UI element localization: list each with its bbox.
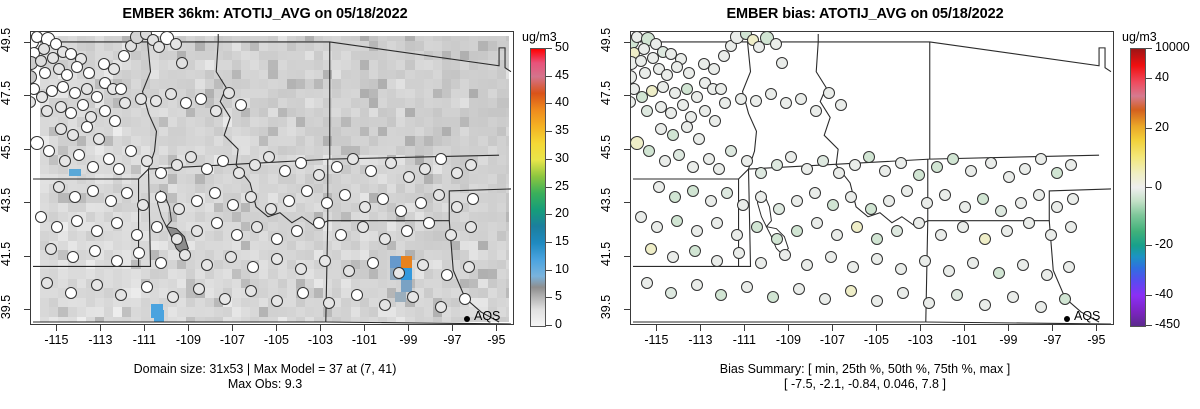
obs-marker[interactable]: [755, 191, 767, 203]
obs-marker[interactable]: [43, 145, 55, 157]
obs-marker[interactable]: [895, 263, 907, 275]
obs-marker[interactable]: [233, 167, 245, 179]
obs-marker[interactable]: [297, 287, 309, 299]
obs-marker[interactable]: [180, 97, 192, 109]
obs-marker[interactable]: [201, 259, 213, 271]
obs-marker[interactable]: [167, 291, 179, 303]
obs-marker[interactable]: [415, 197, 427, 209]
obs-marker[interactable]: [219, 293, 231, 305]
obs-marker[interactable]: [301, 185, 313, 197]
obs-marker[interactable]: [423, 217, 435, 229]
obs-marker[interactable]: [35, 55, 47, 67]
obs-marker[interactable]: [407, 291, 419, 303]
panel-model-title: EMBER 36km: ATOTIJ_AVG on 05/18/2022: [0, 6, 530, 22]
obs-marker[interactable]: [667, 129, 679, 141]
obs-marker[interactable]: [335, 229, 347, 241]
obs-marker[interactable]: [1007, 291, 1019, 303]
obs-marker[interactable]: [735, 93, 747, 105]
obs-marker[interactable]: [170, 38, 182, 50]
obs-marker[interactable]: [959, 201, 971, 213]
obs-marker[interactable]: [53, 181, 65, 193]
obs-marker[interactable]: [249, 159, 261, 171]
obs-marker[interactable]: [708, 63, 720, 75]
obs-marker[interactable]: [689, 245, 701, 257]
obs-marker[interactable]: [67, 251, 79, 263]
obs-marker[interactable]: [465, 159, 477, 171]
map-boundaries-bias: [631, 32, 1113, 324]
obs-marker[interactable]: [451, 167, 463, 179]
obs-marker[interactable]: [711, 217, 723, 229]
obs-marker[interactable]: [87, 161, 99, 173]
obs-marker[interactable]: [1001, 225, 1013, 237]
obs-marker[interactable]: [823, 87, 835, 99]
obs-marker[interactable]: [801, 163, 813, 175]
obs-marker[interactable]: [65, 107, 77, 119]
y-axis-tick: [24, 42, 30, 43]
obs-marker[interactable]: [55, 123, 67, 135]
obs-marker[interactable]: [691, 225, 703, 237]
obs-marker[interactable]: [108, 63, 120, 75]
obs-marker[interactable]: [465, 221, 477, 233]
obs-marker[interactable]: [1045, 229, 1057, 241]
obs-marker[interactable]: [195, 93, 207, 105]
obs-marker[interactable]: [835, 99, 847, 111]
obs-marker[interactable]: [699, 105, 711, 117]
obs-marker[interactable]: [271, 253, 283, 265]
obs-marker[interactable]: [291, 225, 303, 237]
obs-marker[interactable]: [671, 61, 683, 73]
obs-marker[interactable]: [171, 233, 183, 245]
obs-marker[interactable]: [977, 193, 989, 205]
obs-marker[interactable]: [879, 165, 891, 177]
obs-marker[interactable]: [791, 225, 803, 237]
obs-marker[interactable]: [965, 165, 977, 177]
obs-marker[interactable]: [295, 263, 307, 275]
obs-marker[interactable]: [135, 93, 147, 105]
obs-marker[interactable]: [957, 221, 969, 233]
obs-marker[interactable]: [863, 151, 875, 163]
obs-marker[interactable]: [687, 185, 699, 197]
obs-marker[interactable]: [643, 145, 655, 157]
obs-marker[interactable]: [1065, 159, 1077, 171]
obs-marker[interactable]: [895, 157, 907, 169]
obs-marker[interactable]: [683, 67, 695, 79]
obs-marker[interactable]: [217, 155, 229, 167]
obs-marker[interactable]: [845, 191, 857, 203]
obs-marker[interactable]: [1065, 221, 1077, 233]
obs-marker[interactable]: [433, 189, 445, 201]
obs-marker[interactable]: [41, 277, 53, 289]
obs-marker[interactable]: [851, 221, 863, 233]
obs-marker[interactable]: [1019, 163, 1031, 175]
obs-marker[interactable]: [1003, 171, 1015, 183]
obs-marker[interactable]: [379, 233, 391, 245]
obs-marker[interactable]: [403, 171, 415, 183]
obs-marker[interactable]: [639, 67, 651, 79]
obs-marker[interactable]: [111, 255, 123, 267]
obs-marker[interactable]: [847, 261, 859, 273]
obs-marker[interactable]: [1017, 259, 1029, 271]
obs-marker[interactable]: [379, 299, 391, 311]
plot-area-bias[interactable]: AQS: [630, 31, 1114, 325]
obs-marker[interactable]: [645, 243, 657, 255]
obs-marker[interactable]: [703, 153, 715, 165]
obs-marker[interactable]: [435, 153, 447, 165]
obs-marker[interactable]: [661, 69, 673, 81]
obs-marker[interactable]: [247, 261, 259, 273]
obs-marker[interactable]: [897, 287, 909, 299]
obs-marker[interactable]: [71, 61, 83, 73]
obs-marker[interactable]: [1035, 153, 1047, 165]
obs-marker[interactable]: [1035, 301, 1047, 313]
obs-marker[interactable]: [995, 205, 1007, 217]
plot-area-model[interactable]: AQS: [30, 31, 514, 325]
obs-marker[interactable]: [235, 99, 247, 111]
obs-marker[interactable]: [913, 217, 925, 229]
obs-marker[interactable]: [331, 161, 343, 173]
obs-marker[interactable]: [871, 253, 883, 265]
x-axis-tick-label: -115: [36, 333, 76, 347]
obs-marker[interactable]: [849, 159, 861, 171]
obs-marker[interactable]: [65, 287, 77, 299]
obs-marker[interactable]: [979, 233, 991, 245]
obs-marker[interactable]: [733, 247, 745, 259]
obs-marker[interactable]: [91, 279, 103, 291]
obs-marker[interactable]: [673, 149, 685, 161]
obs-marker[interactable]: [779, 249, 791, 261]
obs-marker[interactable]: [785, 151, 797, 163]
obs-marker[interactable]: [231, 229, 243, 241]
obs-marker[interactable]: [653, 181, 665, 193]
obs-marker[interactable]: [61, 69, 73, 81]
obs-marker[interactable]: [801, 259, 813, 271]
obs-marker[interactable]: [365, 165, 377, 177]
obs-marker[interactable]: [193, 283, 205, 295]
obs-marker[interactable]: [891, 225, 903, 237]
obs-marker[interactable]: [176, 57, 188, 69]
obs-marker[interactable]: [71, 215, 83, 227]
obs-marker[interactable]: [141, 155, 153, 167]
obs-marker[interactable]: [41, 105, 53, 117]
obs-marker[interactable]: [343, 265, 355, 277]
obs-marker[interactable]: [691, 279, 703, 291]
obs-marker[interactable]: [1059, 293, 1071, 305]
obs-marker[interactable]: [67, 129, 79, 141]
obs-marker[interactable]: [677, 99, 689, 111]
obs-marker[interactable]: [151, 221, 163, 233]
obs-marker[interactable]: [755, 257, 767, 269]
obs-marker[interactable]: [825, 251, 837, 263]
obs-marker[interactable]: [351, 289, 363, 301]
obs-marker[interactable]: [985, 157, 997, 169]
obs-marker[interactable]: [323, 297, 335, 309]
obs-marker[interactable]: [737, 199, 749, 211]
obs-marker[interactable]: [313, 169, 325, 181]
obs-marker[interactable]: [687, 161, 699, 173]
obs-marker[interactable]: [445, 229, 457, 241]
obs-marker[interactable]: [871, 233, 883, 245]
obs-marker[interactable]: [111, 217, 123, 229]
obs-marker[interactable]: [1015, 197, 1027, 209]
obs-marker[interactable]: [39, 67, 51, 79]
obs-marker[interactable]: [93, 133, 105, 145]
obs-marker[interactable]: [773, 203, 785, 215]
obs-marker[interactable]: [741, 281, 753, 293]
obs-marker[interactable]: [467, 193, 479, 205]
obs-marker[interactable]: [245, 191, 257, 203]
obs-marker[interactable]: [459, 293, 471, 305]
obs-marker[interactable]: [103, 153, 115, 165]
obs-marker[interactable]: [883, 195, 895, 207]
obs-marker[interactable]: [211, 217, 223, 229]
obs-marker[interactable]: [417, 259, 429, 271]
obs-marker[interactable]: [321, 197, 333, 209]
obs-marker[interactable]: [693, 133, 705, 145]
obs-marker[interactable]: [817, 155, 829, 167]
obs-marker[interactable]: [210, 105, 222, 117]
obs-marker[interactable]: [709, 115, 721, 127]
obs-marker[interactable]: [73, 149, 85, 161]
obs-marker[interactable]: [319, 255, 331, 267]
obs-marker[interactable]: [87, 185, 99, 197]
obs-marker[interactable]: [810, 105, 822, 117]
obs-marker[interactable]: [651, 221, 663, 233]
obs-marker[interactable]: [377, 193, 389, 205]
obs-marker[interactable]: [359, 201, 371, 213]
obs-marker[interactable]: [1063, 261, 1075, 273]
obs-marker[interactable]: [831, 229, 843, 241]
obs-marker[interactable]: [451, 201, 463, 213]
obs-marker[interactable]: [395, 205, 407, 217]
obs-marker[interactable]: [630, 136, 644, 150]
obs-marker[interactable]: [750, 95, 762, 107]
obs-marker[interactable]: [681, 83, 693, 95]
obs-marker[interactable]: [401, 225, 413, 237]
obs-marker[interactable]: [279, 165, 291, 177]
obs-marker[interactable]: [155, 257, 167, 269]
obs-marker[interactable]: [185, 151, 197, 163]
obs-marker[interactable]: [77, 99, 89, 111]
obs-marker[interactable]: [715, 83, 727, 95]
obs-marker[interactable]: [665, 107, 677, 119]
colorbar-tick: [546, 297, 552, 298]
obs-marker[interactable]: [271, 233, 283, 245]
obs-marker[interactable]: [721, 187, 733, 199]
obs-marker[interactable]: [115, 83, 127, 95]
obs-marker[interactable]: [641, 105, 653, 117]
obs-marker[interactable]: [811, 217, 823, 229]
obs-marker[interactable]: [901, 185, 913, 197]
obs-marker[interactable]: [669, 87, 681, 99]
obs-marker[interactable]: [105, 195, 117, 207]
obs-marker[interactable]: [69, 87, 81, 99]
obs-marker[interactable]: [283, 195, 295, 207]
obs-marker[interactable]: [771, 159, 783, 171]
obs-marker[interactable]: [119, 97, 131, 109]
obs-marker[interactable]: [776, 57, 788, 69]
obs-marker[interactable]: [741, 155, 753, 167]
obs-marker[interactable]: [795, 93, 807, 105]
obs-marker[interactable]: [125, 145, 137, 157]
obs-marker[interactable]: [793, 283, 805, 295]
obs-marker[interactable]: [227, 199, 239, 211]
obs-marker[interactable]: [1051, 201, 1063, 213]
obs-marker[interactable]: [755, 167, 767, 179]
obs-marker[interactable]: [751, 221, 763, 233]
obs-marker[interactable]: [91, 91, 103, 103]
obs-marker[interactable]: [441, 269, 453, 281]
obs-marker[interactable]: [719, 97, 731, 109]
obs-marker[interactable]: [115, 289, 127, 301]
obs-marker[interactable]: [118, 50, 130, 62]
obs-marker[interactable]: [771, 233, 783, 245]
obs-marker[interactable]: [155, 167, 167, 179]
obs-marker[interactable]: [951, 289, 963, 301]
obs-marker[interactable]: [30, 136, 44, 150]
obs-marker[interactable]: [711, 255, 723, 267]
obs-marker[interactable]: [209, 187, 221, 199]
obs-marker[interactable]: [665, 287, 677, 299]
obs-marker[interactable]: [313, 217, 325, 229]
obs-marker[interactable]: [385, 157, 397, 169]
obs-marker[interactable]: [131, 229, 143, 241]
obs-marker[interactable]: [165, 88, 177, 100]
obs-marker[interactable]: [1023, 217, 1035, 229]
obs-marker[interactable]: [979, 299, 991, 311]
y-axis-tick: [24, 149, 30, 150]
obs-marker[interactable]: [137, 199, 149, 211]
obs-marker[interactable]: [263, 151, 275, 163]
obs-marker[interactable]: [245, 285, 257, 297]
obs-marker[interactable]: [923, 297, 935, 309]
obs-marker[interactable]: [265, 203, 277, 215]
obs-marker[interactable]: [171, 159, 183, 171]
obs-marker[interactable]: [357, 221, 369, 233]
obs-marker[interactable]: [295, 157, 307, 169]
obs-marker[interactable]: [59, 155, 71, 167]
caption-bias-line2: [ -7.5, -2.1, -0.84, 0.046, 7.8 ]: [600, 377, 1130, 392]
obs-marker[interactable]: [191, 225, 203, 237]
obs-marker[interactable]: [155, 191, 167, 203]
obs-marker[interactable]: [35, 211, 47, 223]
obs-marker[interactable]: [121, 187, 133, 199]
obs-marker[interactable]: [83, 67, 95, 79]
obs-marker[interactable]: [770, 38, 782, 50]
obs-marker[interactable]: [827, 199, 839, 211]
obs-marker[interactable]: [767, 291, 779, 303]
obs-marker[interactable]: [81, 83, 93, 95]
obs-marker[interactable]: [141, 281, 153, 293]
obs-marker[interactable]: [641, 277, 653, 289]
obs-marker[interactable]: [51, 221, 63, 233]
obs-marker[interactable]: [681, 121, 693, 133]
obs-marker[interactable]: [731, 229, 743, 241]
obs-marker[interactable]: [913, 169, 925, 181]
obs-marker[interactable]: [791, 195, 803, 207]
obs-marker[interactable]: [1033, 189, 1045, 201]
obs-marker[interactable]: [833, 167, 845, 179]
obs-marker[interactable]: [865, 203, 877, 215]
obs-marker[interactable]: [81, 121, 93, 133]
obs-marker[interactable]: [713, 163, 725, 175]
obs-marker[interactable]: [921, 197, 933, 209]
obs-marker[interactable]: [173, 203, 185, 215]
obs-marker[interactable]: [657, 81, 669, 93]
obs-marker[interactable]: [57, 81, 69, 93]
obs-marker[interactable]: [179, 249, 191, 261]
obs-marker[interactable]: [691, 91, 703, 103]
obs-marker[interactable]: [191, 195, 203, 207]
obs-marker[interactable]: [635, 211, 647, 223]
obs-marker[interactable]: [367, 257, 379, 269]
obs-marker[interactable]: [347, 153, 359, 165]
obs-marker[interactable]: [419, 163, 431, 175]
obs-marker[interactable]: [1067, 193, 1079, 205]
obs-marker[interactable]: [463, 261, 475, 273]
obs-marker[interactable]: [223, 87, 235, 99]
obs-marker[interactable]: [99, 105, 111, 117]
obs-marker[interactable]: [669, 191, 681, 203]
obs-marker[interactable]: [667, 251, 679, 263]
obs-marker[interactable]: [91, 225, 103, 237]
obs-marker[interactable]: [635, 55, 647, 67]
obs-marker[interactable]: [939, 189, 951, 201]
obs-marker[interactable]: [705, 195, 717, 207]
obs-marker[interactable]: [671, 215, 683, 227]
obs-marker[interactable]: [809, 187, 821, 199]
obs-marker[interactable]: [931, 161, 943, 173]
obs-marker[interactable]: [819, 293, 831, 305]
obs-marker[interactable]: [435, 301, 447, 313]
obs-marker[interactable]: [947, 153, 959, 165]
obs-marker[interactable]: [845, 285, 857, 297]
obs-marker[interactable]: [45, 243, 57, 255]
obs-marker[interactable]: [133, 247, 145, 259]
y-axis-tick-label: 41.5: [599, 232, 613, 276]
obs-marker[interactable]: [271, 295, 283, 307]
obs-marker[interactable]: [150, 95, 162, 107]
obs-marker[interactable]: [201, 163, 213, 175]
obs-marker[interactable]: [659, 155, 671, 167]
obs-marker[interactable]: [715, 289, 727, 301]
obs-marker[interactable]: [780, 97, 792, 109]
obs-marker[interactable]: [967, 257, 979, 269]
obs-marker[interactable]: [765, 88, 777, 100]
obs-marker[interactable]: [655, 123, 667, 135]
obs-marker[interactable]: [109, 115, 121, 127]
obs-marker[interactable]: [919, 255, 931, 267]
obs-marker[interactable]: [871, 295, 883, 307]
colorbar-tick-label: 10000: [1155, 40, 1190, 54]
obs-marker[interactable]: [993, 267, 1005, 279]
obs-marker[interactable]: [69, 191, 81, 203]
obs-marker[interactable]: [225, 251, 237, 263]
obs-marker[interactable]: [393, 267, 405, 279]
obs-marker[interactable]: [718, 50, 730, 62]
colorbar-model-title: ug/m3: [522, 30, 557, 44]
obs-marker[interactable]: [251, 221, 263, 233]
colorbar-tick: [1146, 325, 1152, 326]
obs-marker[interactable]: [725, 145, 737, 157]
obs-marker[interactable]: [113, 163, 125, 175]
obs-marker[interactable]: [943, 265, 955, 277]
obs-marker[interactable]: [935, 229, 947, 241]
y-axis-tick: [24, 95, 30, 96]
obs-marker[interactable]: [1041, 269, 1053, 281]
obs-marker[interactable]: [339, 189, 351, 201]
obs-marker[interactable]: [89, 245, 101, 257]
obs-marker[interactable]: [1051, 167, 1063, 179]
